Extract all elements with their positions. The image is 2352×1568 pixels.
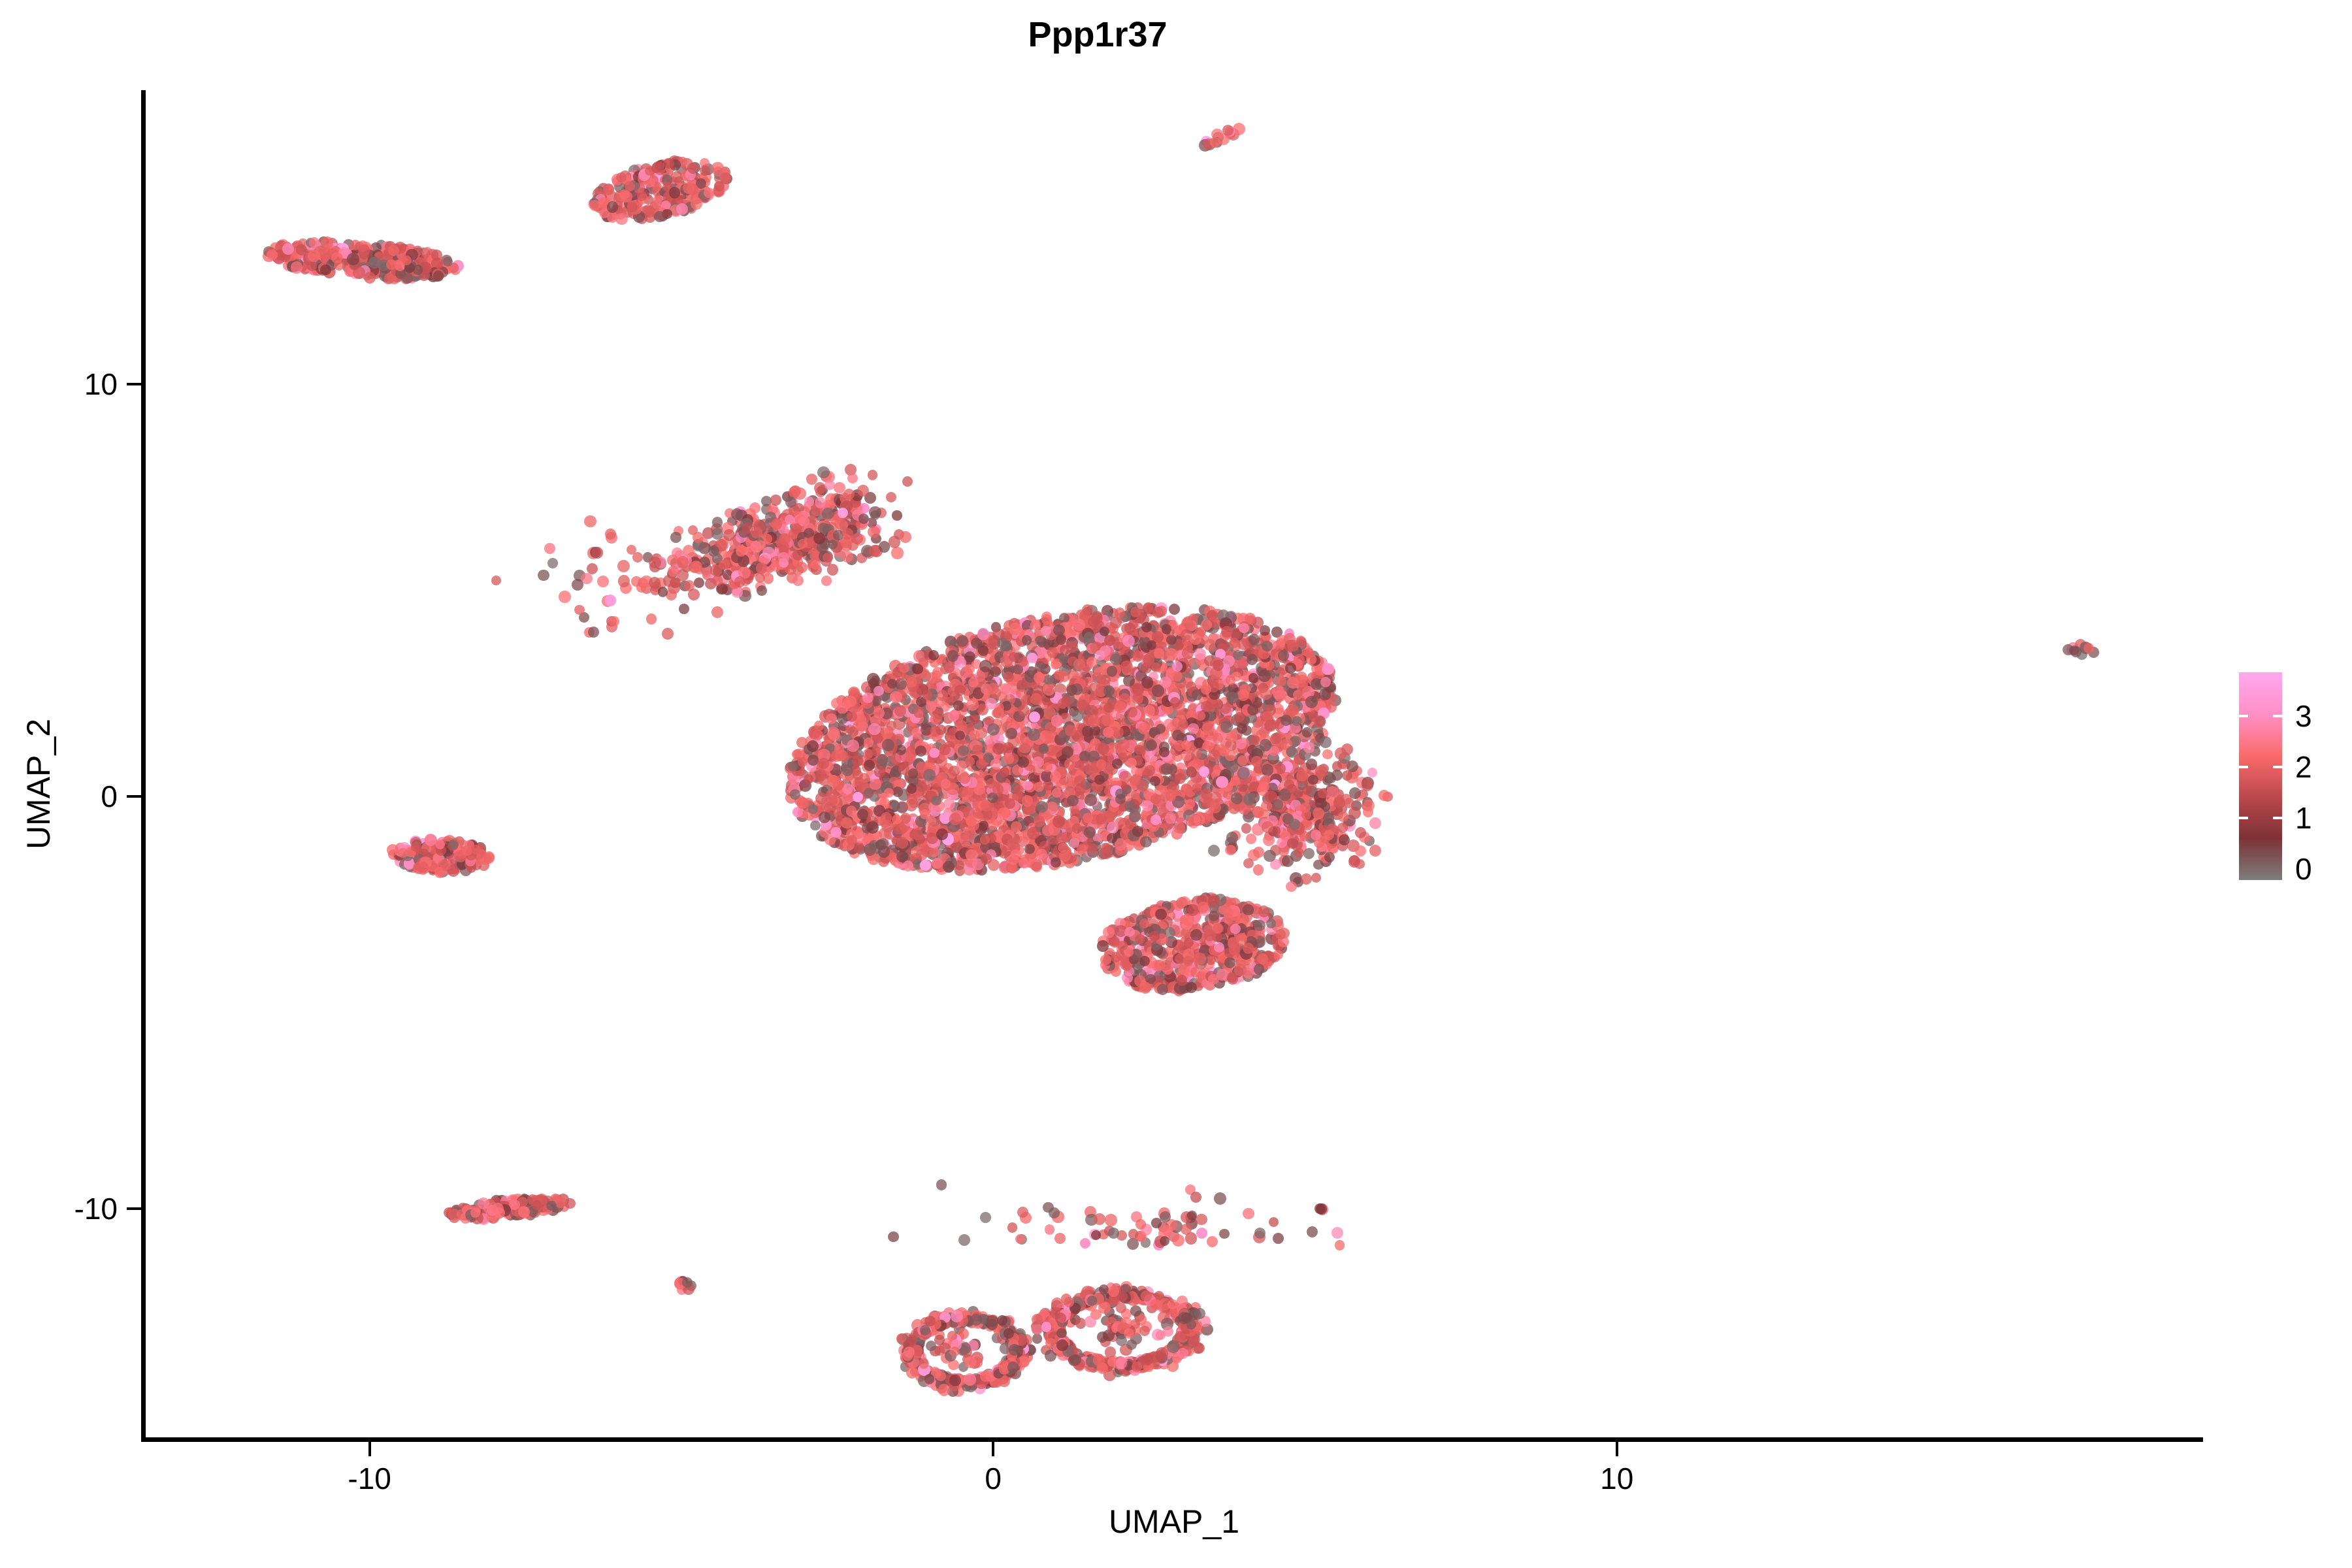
- scatter-point: [309, 237, 320, 248]
- scatter-point: [823, 553, 833, 563]
- scatter-point: [615, 213, 628, 225]
- scatter-point: [714, 181, 725, 191]
- scatter-point: [1029, 711, 1040, 723]
- scatter-point: [433, 270, 444, 281]
- scatter-point: [966, 698, 979, 711]
- scatter-point: [1221, 626, 1233, 638]
- scatter-point: [1030, 619, 1041, 630]
- scatter-point: [1096, 759, 1106, 769]
- scatter-point: [347, 253, 359, 265]
- scatter-point: [964, 651, 975, 662]
- scatter-point: [889, 536, 900, 547]
- scatter-point: [943, 861, 955, 873]
- scatter-point: [1000, 767, 1009, 777]
- scatter-point: [881, 812, 892, 823]
- scatter-point: [710, 564, 722, 576]
- scatter-point: [1247, 654, 1258, 665]
- scatter-point: [402, 255, 412, 265]
- scatter-point: [1322, 663, 1334, 676]
- scatter-point: [966, 815, 977, 826]
- scatter-point: [834, 743, 845, 754]
- scatter-point: [1130, 775, 1140, 785]
- scatter-point: [1124, 623, 1135, 634]
- scatter-point: [734, 576, 745, 587]
- scatter-point: [1154, 648, 1164, 659]
- scatter-point: [1007, 838, 1019, 850]
- scatter-point: [1019, 742, 1031, 754]
- scatter-point: [751, 541, 762, 552]
- scatter-point: [691, 197, 703, 210]
- scatter-point: [1210, 137, 1220, 148]
- scatter-point: [907, 783, 917, 793]
- scatter-point: [847, 473, 858, 483]
- scatter-point: [1175, 773, 1186, 784]
- scatter-point: [1072, 823, 1082, 833]
- scatter-point: [683, 182, 694, 194]
- scatter-point: [1201, 684, 1211, 694]
- page-title: Ppp1r37: [0, 14, 2274, 55]
- scatter-point: [874, 686, 884, 696]
- scatter-point: [1227, 692, 1239, 704]
- scatter-point: [386, 259, 397, 270]
- scatter-point: [1285, 662, 1296, 674]
- scatter-point: [358, 244, 370, 256]
- scatter-point: [936, 725, 946, 735]
- scatter-point: [1201, 701, 1212, 712]
- scatter-point: [998, 808, 1009, 819]
- scatter-point: [1213, 733, 1223, 743]
- scatter-point: [900, 531, 911, 543]
- scatter-point: [1027, 827, 1039, 840]
- scatter-point: [1162, 624, 1172, 634]
- scatter-point: [1002, 684, 1013, 695]
- scatter-point: [1112, 759, 1122, 769]
- scatter-point: [670, 532, 681, 543]
- scatter-point: [1096, 813, 1107, 825]
- scatter-point: [956, 635, 968, 647]
- scatter-point: [868, 470, 878, 480]
- scatter-point: [1032, 862, 1042, 872]
- scatter-point: [977, 628, 990, 640]
- scatter-point: [815, 497, 826, 508]
- scatter-point: [296, 244, 307, 255]
- scatter-point: [751, 527, 762, 539]
- scatter-point: [1264, 720, 1276, 732]
- scatter-point: [841, 817, 852, 828]
- scatter-point: [1043, 781, 1053, 791]
- scatter-point: [1273, 687, 1285, 700]
- scatter-point: [979, 660, 992, 672]
- scatter-point: [932, 667, 943, 678]
- scatter-point: [1065, 725, 1076, 736]
- scatter-point: [738, 555, 749, 566]
- scatter-point: [1132, 651, 1143, 662]
- scatter-point: [1195, 711, 1205, 721]
- scatter-point: [1082, 604, 1093, 615]
- scatter-point: [969, 730, 980, 741]
- scatter-point: [868, 723, 881, 736]
- scatter-point: [912, 829, 923, 840]
- scatter-point: [1028, 728, 1040, 741]
- scatter-point: [1115, 794, 1126, 804]
- scatter-point: [972, 745, 982, 755]
- scatter-point: [822, 508, 834, 520]
- scatter-point: [884, 788, 894, 798]
- scatter-point: [1159, 747, 1169, 757]
- scatter-point: [947, 650, 958, 661]
- scatter-point: [847, 740, 859, 752]
- scatter-point: [1043, 675, 1053, 685]
- scatter-point: [756, 563, 768, 574]
- scatter-point: [1166, 635, 1177, 645]
- scatter-point: [320, 265, 331, 275]
- scatter-point: [906, 799, 918, 811]
- scatter-point: [688, 589, 700, 600]
- scatter-point: [813, 532, 825, 544]
- scatter-point: [1018, 705, 1030, 717]
- scatter-point: [1143, 655, 1154, 666]
- scatter-point: [830, 827, 841, 838]
- scatter-point: [1134, 745, 1144, 755]
- plot-panel: [145, 91, 2203, 1439]
- scatter-point: [627, 202, 638, 213]
- scatter-point: [1126, 758, 1137, 768]
- scatter-point: [956, 720, 967, 730]
- scatter-point: [1171, 829, 1182, 840]
- scatter-point: [821, 576, 832, 586]
- scatter-point: [841, 764, 853, 776]
- scatter-point: [943, 798, 955, 810]
- scatter-point: [1085, 794, 1097, 806]
- scatter-point: [968, 678, 979, 688]
- scatter-point: [810, 821, 821, 831]
- scatter-point: [1035, 661, 1045, 672]
- scatter-point: [866, 821, 879, 834]
- scatter-point: [1104, 635, 1115, 646]
- scatter-point: [1079, 760, 1090, 772]
- scatter-point: [723, 529, 735, 541]
- scatter-point: [838, 508, 848, 518]
- scatter-point: [1151, 815, 1161, 825]
- scatter-point: [1043, 762, 1053, 772]
- scatter-point: [1024, 844, 1034, 854]
- scatter-point: [711, 606, 723, 618]
- scatter-point: [1073, 659, 1085, 670]
- scatter-point: [887, 679, 897, 689]
- scatter-point: [851, 533, 862, 544]
- scatter-point: [1202, 723, 1213, 734]
- scatter-point: [1130, 607, 1141, 617]
- scatter-point: [1227, 731, 1237, 742]
- scatter-point: [736, 546, 747, 557]
- scatter-point: [804, 774, 813, 784]
- scatter-point: [892, 510, 902, 520]
- scatter-point: [1141, 622, 1152, 632]
- scatter-point: [1056, 634, 1066, 645]
- scatter-point: [1270, 733, 1281, 744]
- scatter-point: [1103, 727, 1114, 738]
- scatter-point: [1064, 759, 1075, 770]
- scatter-point: [1019, 858, 1028, 868]
- scatter-point: [867, 673, 879, 685]
- scatter-point: [364, 272, 376, 284]
- scatter-point: [900, 813, 911, 823]
- scatter-point: [1054, 670, 1064, 680]
- scatter-point: [1152, 685, 1164, 696]
- scatter-point: [955, 685, 966, 696]
- scatter-point: [897, 837, 908, 848]
- scatter-point: [902, 476, 913, 487]
- scatter-point: [712, 517, 723, 528]
- scatter-point: [907, 677, 917, 687]
- scatter-point: [1018, 657, 1028, 667]
- scatter-point: [990, 759, 1002, 770]
- scatter-point: [997, 638, 1008, 649]
- scatter-point: [1124, 801, 1135, 812]
- scatter-point: [964, 664, 975, 675]
- scatter-point: [1208, 749, 1220, 762]
- scatter-point: [881, 728, 893, 740]
- scatter-point: [1144, 705, 1155, 716]
- scatter-point: [948, 710, 959, 721]
- scatter-point: [985, 698, 997, 710]
- scatter-point: [1009, 623, 1022, 635]
- scatter-point: [755, 573, 765, 583]
- scatter-point: [1003, 672, 1014, 683]
- scatter-point: [845, 696, 857, 707]
- scatter-point: [892, 815, 902, 825]
- scatter-point: [619, 189, 629, 199]
- scatter-point: [1053, 815, 1065, 828]
- scatter-point: [669, 187, 680, 198]
- scatter-point: [1051, 857, 1062, 868]
- scatter-point: [1008, 854, 1019, 865]
- scatter-point: [1034, 782, 1044, 792]
- scatter-point: [687, 163, 698, 174]
- scatter-point: [368, 257, 381, 269]
- scatter-point: [291, 261, 302, 273]
- scatter-point: [827, 775, 840, 787]
- scatter-point: [847, 835, 857, 845]
- scatter-point: [1190, 634, 1201, 645]
- scatter-point: [1009, 652, 1019, 662]
- scatter-point: [603, 184, 614, 195]
- scatter-point: [1075, 783, 1086, 795]
- scatter-point: [1017, 757, 1028, 768]
- scatter-point: [1320, 677, 1331, 687]
- scatter-point: [890, 753, 902, 764]
- scatter-point: [1070, 838, 1079, 847]
- scatter-point: [1103, 685, 1115, 696]
- scatter-point: [1129, 811, 1141, 823]
- scatter-point: [1146, 740, 1157, 751]
- scatter-point: [879, 541, 890, 553]
- scatter-point: [770, 495, 781, 506]
- scatter-point: [890, 691, 902, 703]
- scatter-point: [892, 787, 903, 797]
- scatter-point: [712, 575, 723, 585]
- scatter-point: [663, 158, 674, 169]
- scatter-point: [1150, 776, 1160, 787]
- scatter-point: [1056, 832, 1067, 843]
- scatter-point: [1088, 715, 1100, 727]
- scatter-point: [908, 768, 918, 778]
- scatter-point: [970, 714, 979, 724]
- scatter-point: [1059, 613, 1070, 623]
- scatter-point: [886, 492, 896, 502]
- scatter-point: [864, 760, 875, 771]
- scatter-point: [1071, 710, 1083, 722]
- scatter-point: [1260, 688, 1272, 700]
- scatter-point: [979, 821, 988, 830]
- scatter-point: [1082, 726, 1092, 736]
- scatter-point: [1098, 743, 1109, 755]
- scatter-point: [1186, 766, 1197, 777]
- scatter-point: [1249, 634, 1260, 645]
- scatter-point: [987, 723, 1000, 736]
- scatter-point: [807, 740, 819, 752]
- scatter-point: [1278, 650, 1288, 661]
- scatter-point: [785, 515, 794, 525]
- scatter-point: [1006, 728, 1017, 739]
- scatter-point: [875, 840, 886, 850]
- scatter-point: [987, 683, 999, 694]
- scatter-point: [388, 245, 399, 256]
- scatter-point: [1127, 707, 1137, 717]
- scatter-point: [779, 533, 791, 545]
- scatter-point: [1161, 763, 1173, 775]
- scatter-point: [1036, 849, 1047, 860]
- scatter-point: [771, 519, 782, 530]
- scatter-point: [1103, 703, 1113, 713]
- scatter-point: [953, 700, 964, 711]
- scatter-point: [1066, 641, 1077, 653]
- scatter-point: [1043, 683, 1055, 696]
- scatter-point: [815, 770, 826, 781]
- scatter-point: [1185, 799, 1195, 809]
- scatter-point: [1120, 661, 1133, 673]
- scatter-point: [852, 755, 863, 766]
- scatter-point: [1101, 847, 1112, 858]
- scatter-point: [1194, 648, 1206, 660]
- scatter-point: [694, 578, 704, 588]
- scatter-points-layer: [145, 91, 2203, 1439]
- scatter-point: [667, 555, 678, 565]
- scatter-point: [981, 800, 992, 811]
- scatter-point: [1003, 753, 1014, 764]
- scatter-point: [1172, 671, 1182, 681]
- scatter-point: [1281, 715, 1292, 726]
- scatter-point: [959, 772, 970, 783]
- scatter-point: [869, 506, 881, 518]
- umap-feature-plot: Ppp1r37 -10010 -10010 UMAP_1 UMAP_2 0123: [0, 0, 2352, 1568]
- scatter-point: [843, 489, 855, 500]
- scatter-point: [402, 273, 413, 284]
- scatter-point: [1066, 685, 1077, 696]
- scatter-point: [981, 853, 992, 864]
- scatter-point: [874, 708, 885, 719]
- scatter-point: [1078, 700, 1089, 711]
- scatter-point: [915, 745, 926, 757]
- scatter-point: [1302, 727, 1312, 737]
- scatter-point: [899, 662, 909, 673]
- scatter-point: [1249, 673, 1258, 683]
- scatter-point: [1251, 725, 1261, 735]
- scatter-point: [1140, 836, 1151, 847]
- scatter-point: [939, 744, 951, 755]
- scatter-point: [1296, 637, 1307, 647]
- scatter-point: [929, 748, 939, 759]
- scatter-point: [862, 693, 873, 703]
- scatter-point: [676, 203, 688, 215]
- scatter-point: [1047, 647, 1058, 657]
- scatter-point: [911, 728, 921, 738]
- scatter-point: [825, 480, 834, 490]
- scatter-point: [617, 560, 630, 572]
- scatter-point: [847, 711, 857, 722]
- scatter-point: [1030, 693, 1042, 705]
- scatter-point: [931, 796, 941, 806]
- scatter-point: [1239, 684, 1250, 695]
- scatter-point: [1288, 705, 1298, 715]
- scatter-point: [1039, 743, 1049, 754]
- scatter-point: [1046, 802, 1058, 814]
- scatter-point: [267, 250, 277, 260]
- scatter-point: [1022, 795, 1033, 806]
- scatter-point: [976, 759, 987, 769]
- scatter-point: [817, 466, 829, 478]
- scatter-point: [1053, 625, 1065, 636]
- scatter-point: [1041, 626, 1051, 636]
- scatter-point: [785, 497, 796, 508]
- scatter-point: [589, 200, 600, 211]
- scatter-point: [868, 526, 879, 538]
- scatter-point: [814, 482, 826, 494]
- scatter-point: [443, 257, 453, 267]
- scatter-point: [792, 550, 803, 561]
- scatter-point: [1094, 775, 1104, 785]
- scatter-point: [992, 784, 1004, 795]
- scatter-point: [693, 532, 704, 543]
- scatter-point: [958, 745, 968, 756]
- scatter-point: [792, 575, 804, 586]
- scatter-point: [1051, 715, 1063, 727]
- scatter-point: [891, 547, 903, 559]
- scatter-point: [1181, 784, 1192, 795]
- scatter-point: [1084, 826, 1096, 838]
- scatter-point: [1165, 812, 1176, 823]
- scatter-point: [872, 746, 881, 756]
- scatter-point: [1194, 814, 1205, 825]
- scatter-point: [949, 813, 961, 825]
- scatter-point: [882, 739, 894, 751]
- scatter-point: [796, 562, 808, 573]
- scatter-point: [1169, 604, 1180, 615]
- scatter-point: [846, 806, 857, 816]
- scatter-point: [1239, 623, 1249, 633]
- scatter-point: [308, 250, 320, 262]
- scatter-point: [1122, 635, 1134, 647]
- scatter-point: [1067, 795, 1079, 807]
- scatter-point: [1314, 715, 1326, 728]
- scatter-point: [1305, 696, 1318, 708]
- scatter-point: [809, 551, 819, 561]
- scatter-point: [1034, 672, 1045, 683]
- scatter-point: [798, 539, 808, 549]
- scatter-point: [1102, 714, 1114, 727]
- scatter-point: [1138, 723, 1150, 734]
- scatter-point: [1225, 750, 1236, 761]
